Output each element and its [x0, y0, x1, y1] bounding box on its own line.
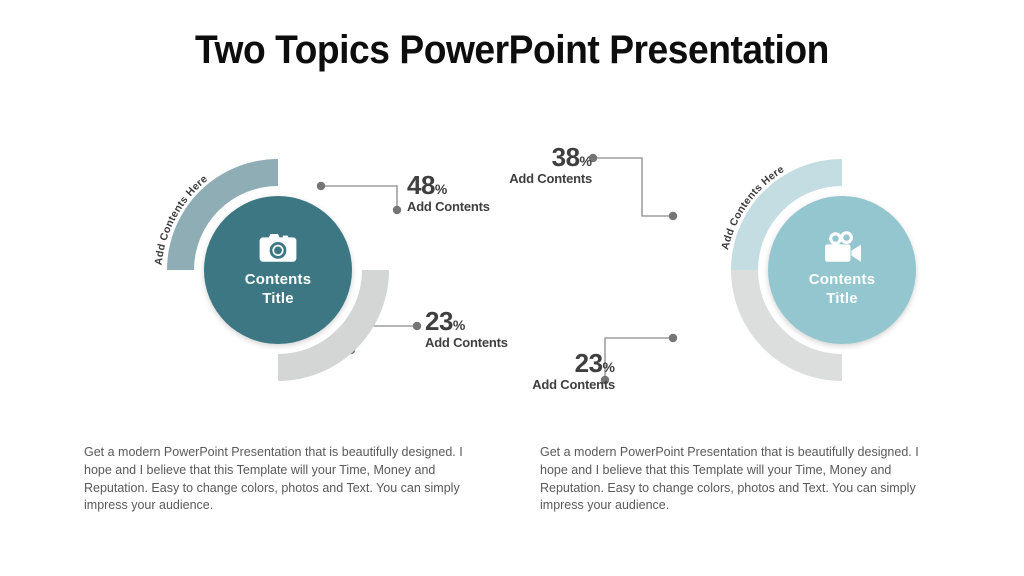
page-title: Two Topics PowerPoint Presentation: [36, 28, 988, 73]
callout-left-primary[interactable]: 48% Add Contents: [407, 170, 490, 214]
ring-left: Add Contents Here Contents Title: [153, 145, 403, 395]
callout-percent: 23%: [532, 348, 615, 379]
callout-label: Add Contents: [509, 171, 592, 186]
photo-camera-icon: [257, 231, 299, 265]
video-camera-icon: [820, 231, 864, 265]
content-title-line2: Title: [262, 290, 294, 307]
content-circle-right[interactable]: Contents Title: [768, 196, 916, 344]
body-paragraph-right: Get a modern PowerPoint Presentation tha…: [540, 444, 940, 515]
callout-label: Add Contents: [532, 377, 615, 392]
percent-sign: %: [580, 153, 592, 169]
content-circle-left[interactable]: Contents Title: [204, 196, 352, 344]
content-title-line2: Title: [826, 290, 858, 307]
diagram-right: Add Contents Here Contents Ti: [545, 130, 1015, 420]
callout-percent: 38%: [509, 142, 592, 173]
callout-label: Add Contents: [407, 199, 490, 214]
content-circle-title-left: Contents Title: [245, 271, 312, 309]
percent-sign: %: [603, 359, 615, 375]
callout-percent: 23%: [425, 306, 508, 337]
callout-percent: 48%: [407, 170, 490, 201]
callout-right-secondary[interactable]: 23% Add Contents: [532, 348, 615, 392]
percent-sign: %: [453, 317, 465, 333]
callout-label: Add Contents: [425, 335, 508, 350]
body-paragraph-left: Get a modern PowerPoint Presentation tha…: [84, 444, 484, 515]
content-title-line1: Contents: [245, 271, 312, 288]
callout-right-primary[interactable]: 38% Add Contents: [509, 142, 592, 186]
diagram-left: Add Contents Here Contents Title: [105, 130, 575, 420]
percent-sign: %: [435, 181, 447, 197]
content-circle-title-right: Contents Title: [809, 271, 876, 309]
slide-canvas: Two Topics PowerPoint Presentation: [0, 0, 1024, 576]
content-title-line1: Contents: [809, 271, 876, 288]
ring-right: Add Contents Here Contents Ti: [717, 145, 967, 395]
callout-left-secondary[interactable]: 23% Add Contents: [425, 306, 508, 350]
